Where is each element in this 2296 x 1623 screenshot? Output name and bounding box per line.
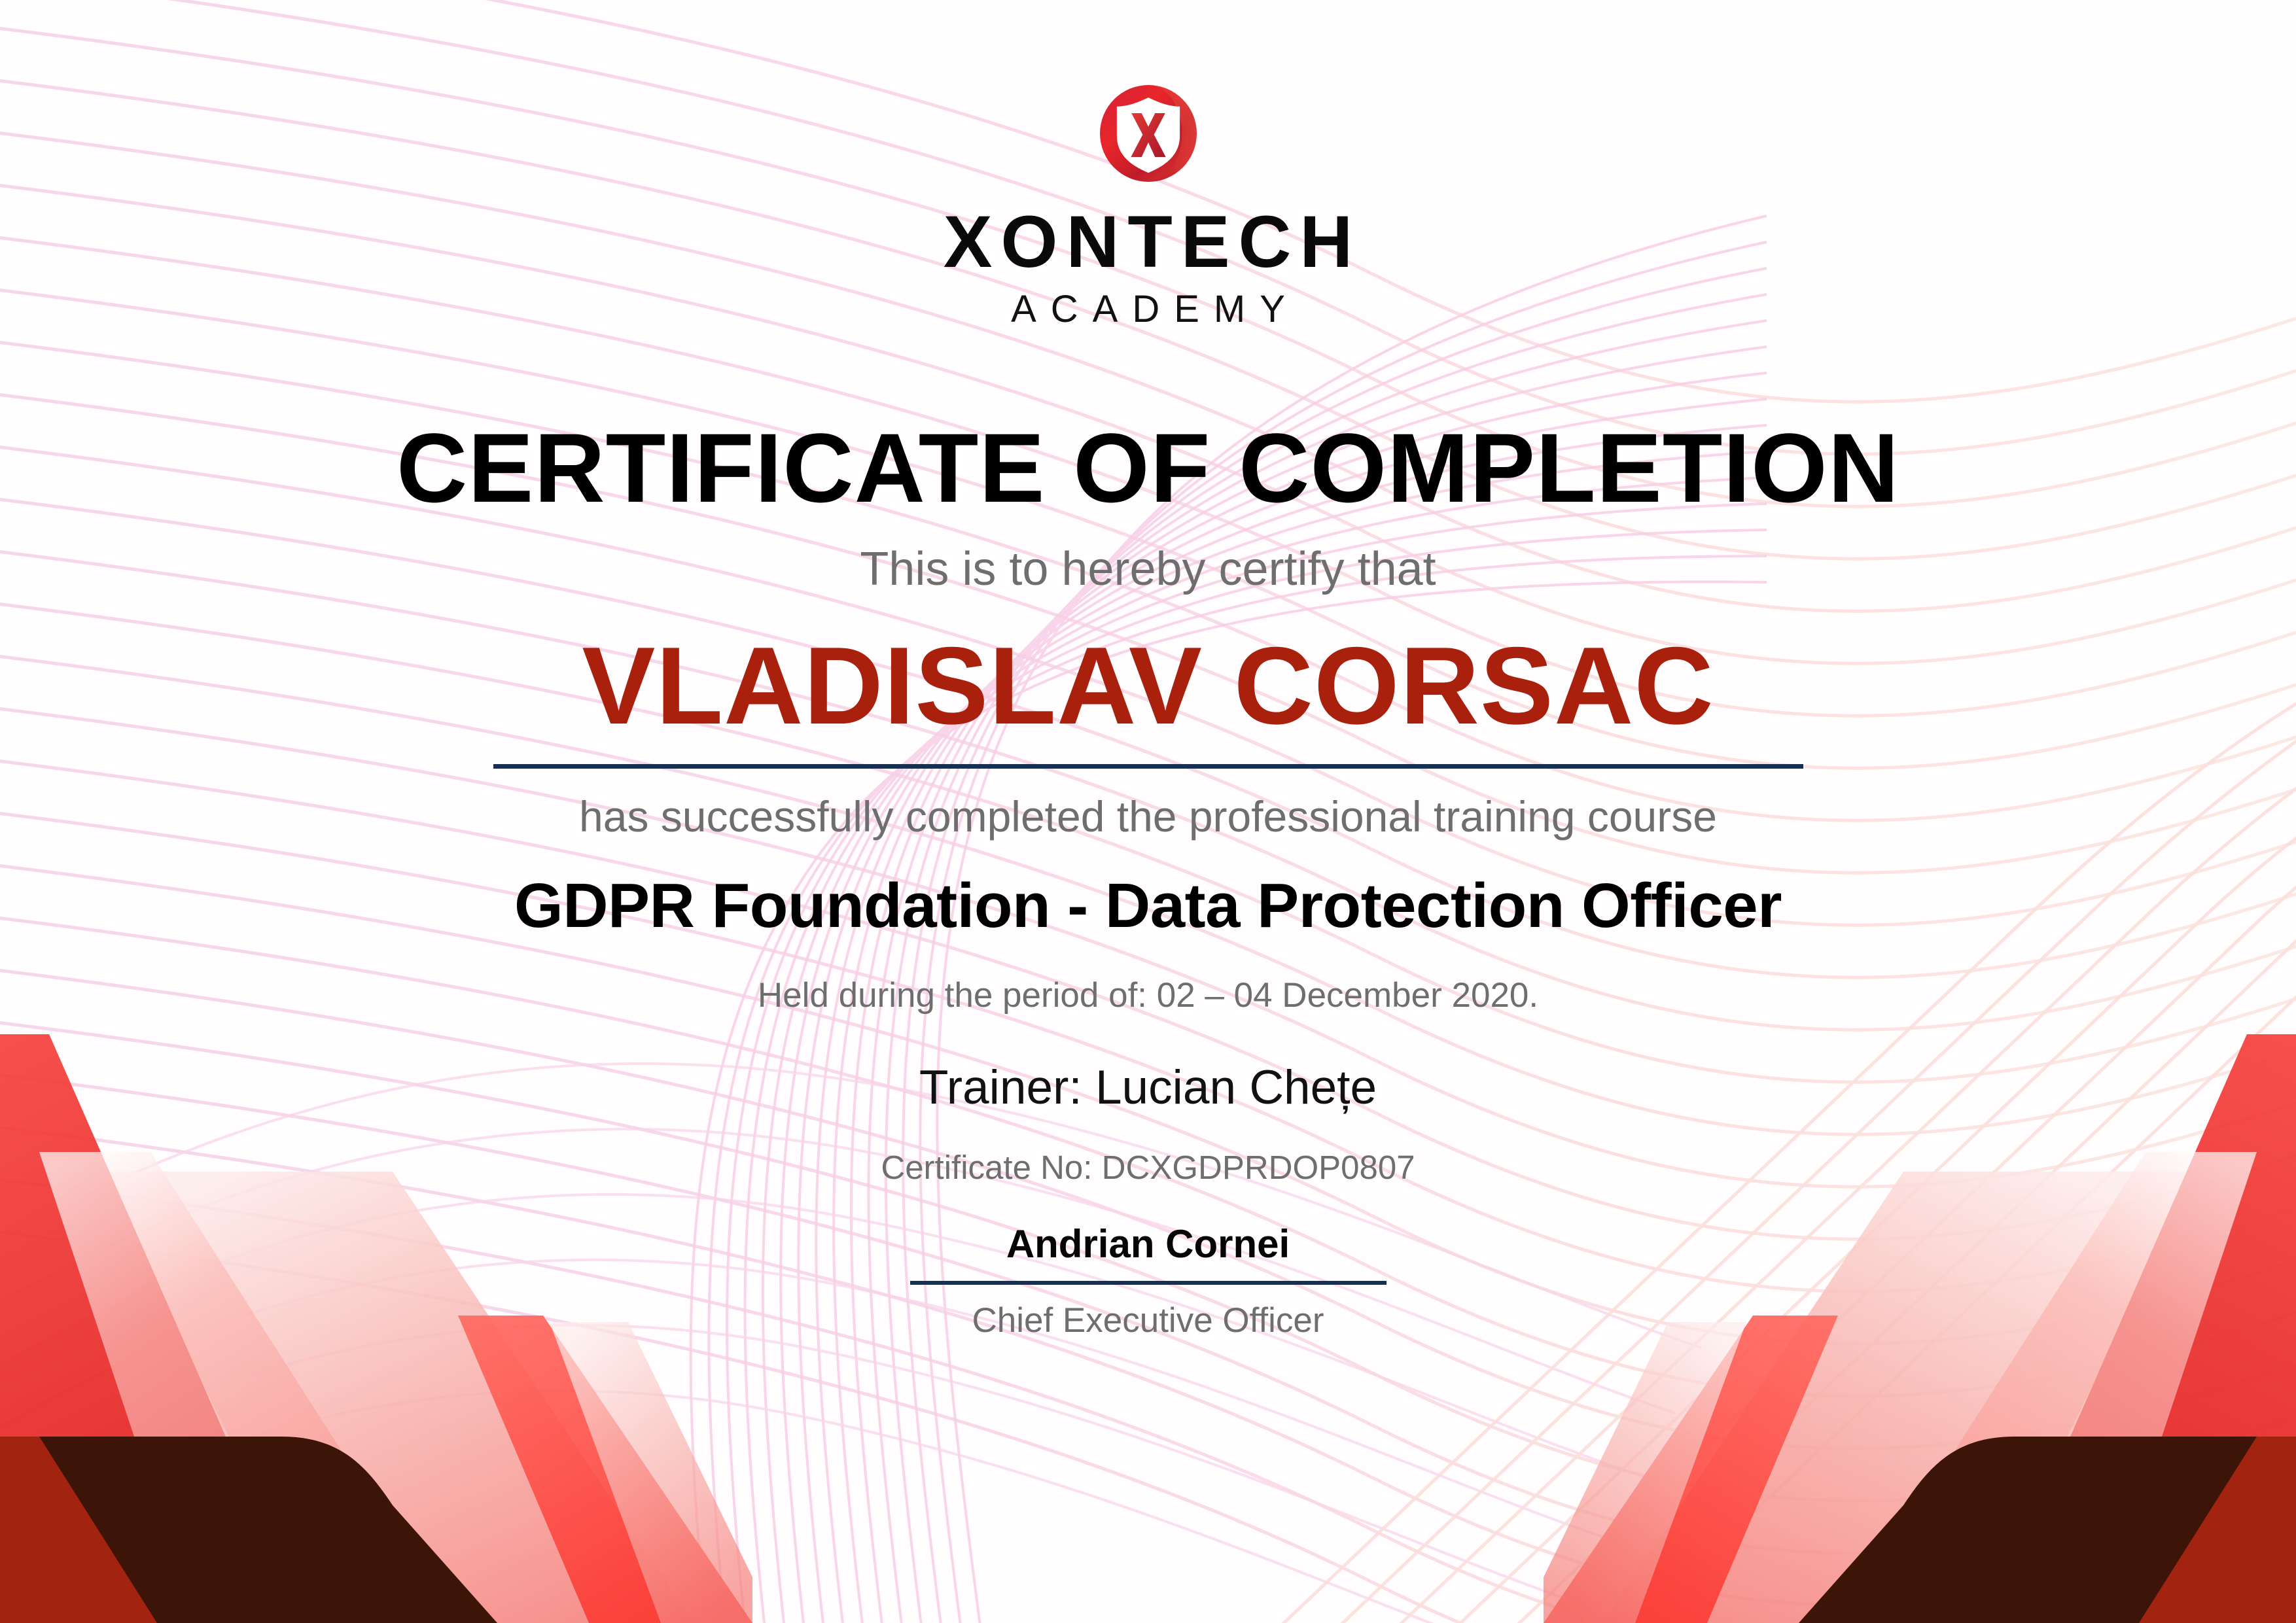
signature-underline bbox=[910, 1281, 1386, 1285]
completion-statement: has successfully completed the professio… bbox=[579, 795, 1717, 838]
brand-logo-block: XONTECH ACADEMY bbox=[935, 77, 1362, 328]
recipient-name: VLADISLAV CORSAC bbox=[582, 631, 1714, 741]
brand-sub-wordmark: ACADEMY bbox=[997, 290, 1299, 328]
xontech-shield-x-icon bbox=[1092, 77, 1205, 190]
signature-block: Andrian Cornei Chief Executive Officer bbox=[910, 1225, 1386, 1338]
certificate-content: XONTECH ACADEMY CERTIFICATE OF COMPLETIO… bbox=[0, 0, 2296, 1623]
course-title: GDPR Foundation - Data Protection Office… bbox=[514, 875, 1782, 937]
signatory-name: Andrian Cornei bbox=[1006, 1225, 1290, 1264]
course-period: Held during the period of: 02 – 04 Decem… bbox=[758, 978, 1538, 1013]
certificate-page: XONTECH ACADEMY CERTIFICATE OF COMPLETIO… bbox=[0, 0, 2296, 1623]
signatory-role: Chief Executive Officer bbox=[972, 1303, 1324, 1338]
recipient-underline bbox=[493, 764, 1803, 769]
brand-wordmark: XONTECH bbox=[935, 205, 1362, 279]
certificate-title: CERTIFICATE OF COMPLETION bbox=[397, 419, 1899, 517]
trainer-name: Trainer: Lucian Chețe bbox=[919, 1064, 1377, 1111]
certificate-subtitle: This is to hereby certify that bbox=[860, 546, 1436, 593]
certificate-number: Certificate No: DCXGDPRDOP0807 bbox=[881, 1151, 1415, 1184]
